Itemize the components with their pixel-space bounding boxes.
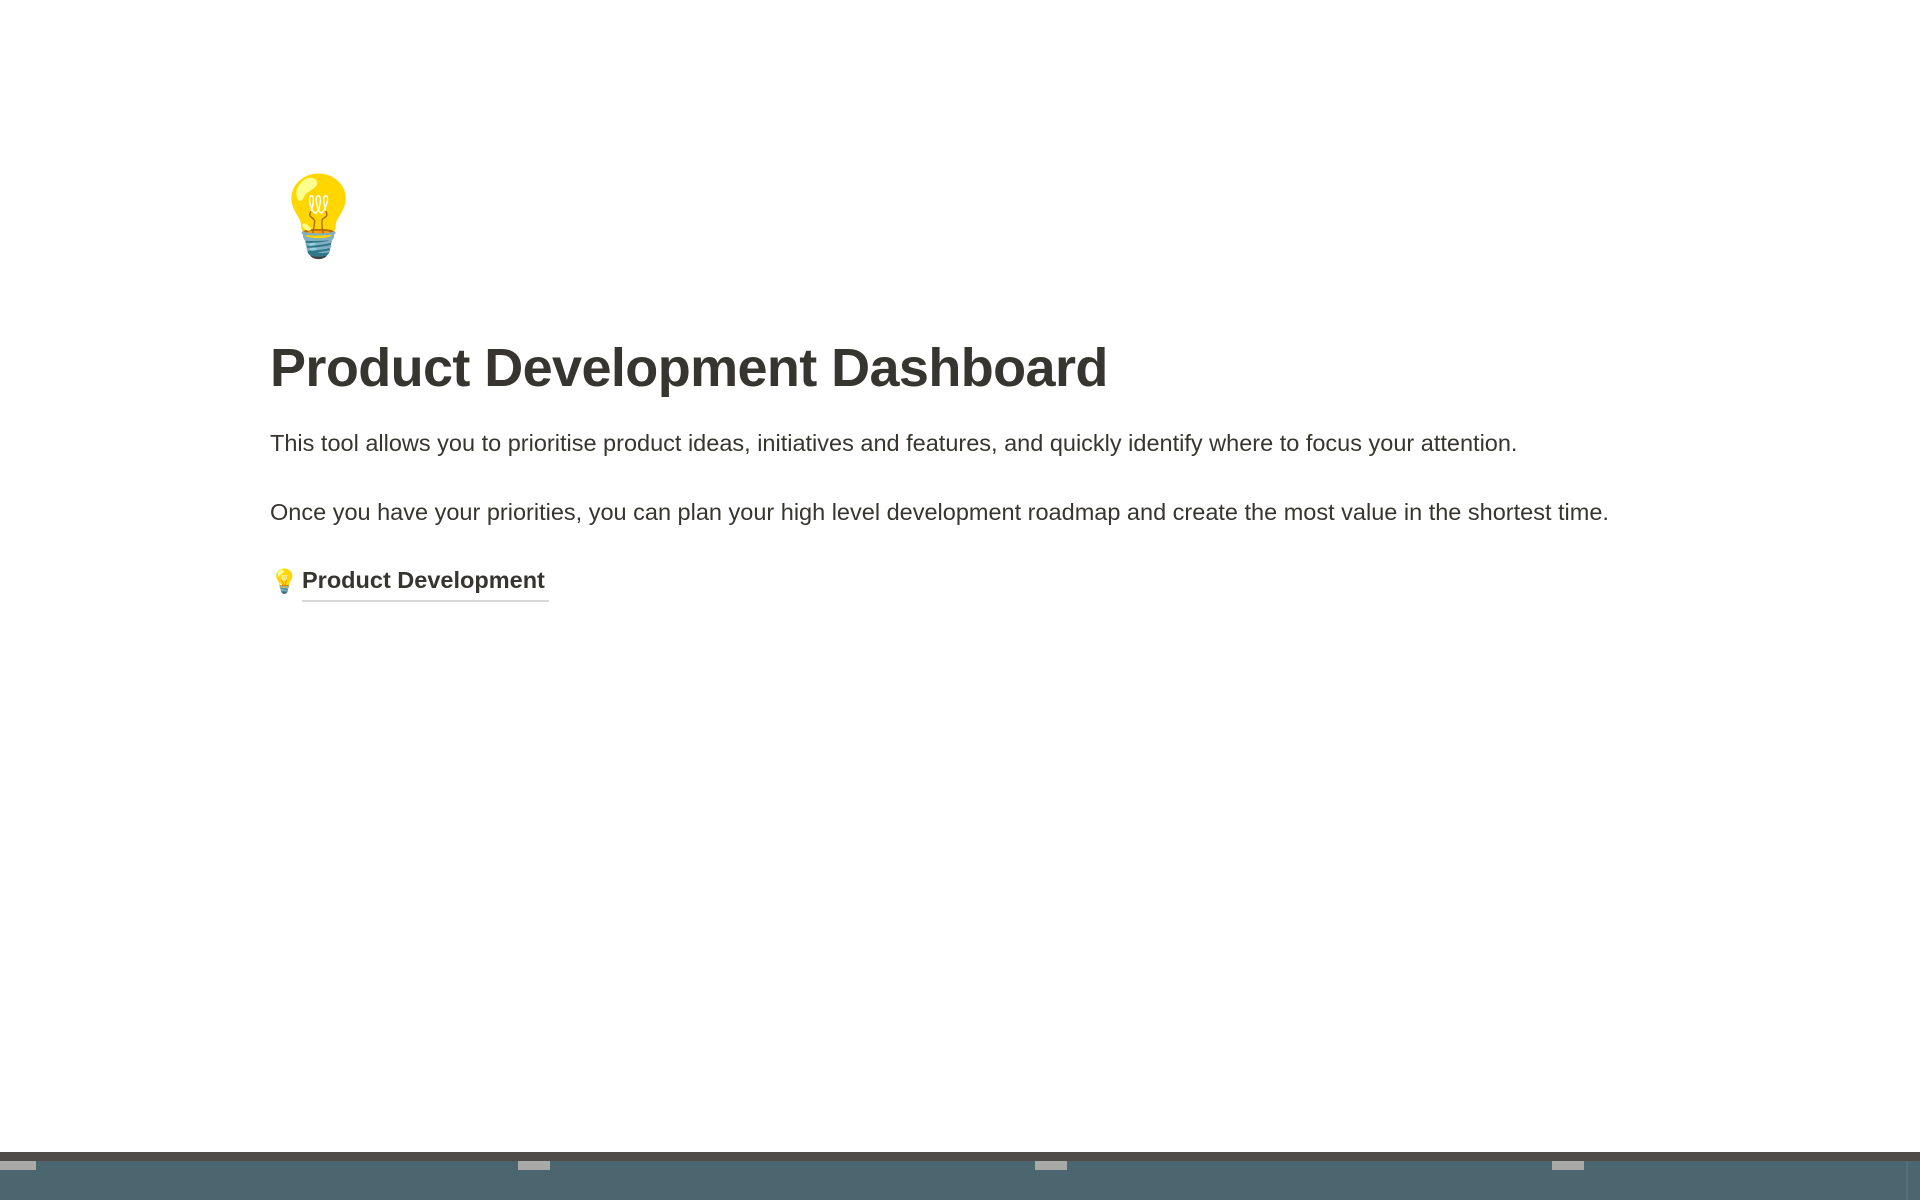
bottom-divider-strip (0, 1152, 1920, 1161)
intro-paragraph-2[interactable]: Once you have your priorities, you can p… (270, 493, 1690, 532)
document-page: 💡 Product Development Dashboard This too… (0, 0, 1920, 1200)
light-bulb-icon: 💡 (270, 571, 302, 594)
scroll-marker[interactable] (518, 1161, 550, 1170)
bottom-accent-band-edge (1906, 1161, 1908, 1200)
document-content: 💡 Product Development Dashboard This too… (270, 0, 1690, 602)
page-title[interactable]: Product Development Dashboard (270, 338, 1690, 398)
scroll-marker[interactable] (1552, 1161, 1584, 1170)
scroll-marker[interactable] (0, 1161, 36, 1170)
bottom-bar (0, 1152, 1920, 1200)
page-link-row[interactable]: 💡 Product Development (270, 562, 549, 602)
intro-paragraph-1[interactable]: This tool allows you to prioritise produ… (270, 424, 1690, 463)
light-bulb-icon[interactable]: 💡 (270, 178, 1690, 286)
page-link-product-development[interactable]: Product Development (302, 563, 549, 602)
scroll-marker[interactable] (1035, 1161, 1067, 1170)
bottom-accent-band (0, 1161, 1920, 1200)
